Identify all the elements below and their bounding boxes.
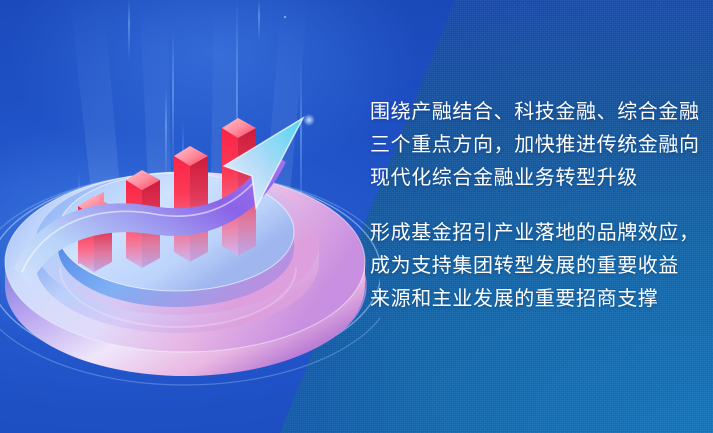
growth-chart-illustration	[0, 0, 380, 433]
paragraph-2-line-2: 成为支持集团转型发展的重要收益	[370, 250, 700, 283]
bar-3	[174, 146, 208, 262]
paragraph-2: 形成基金招引产业落地的品牌效应， 成为支持集团转型发展的重要收益 来源和主业发展…	[370, 217, 700, 316]
paragraph-1-line-1: 围绕产融结合、科技金融、综合金融	[370, 96, 700, 129]
paragraph-1-line-2: 三个重点方向，加快推进传统金融向	[370, 129, 700, 162]
copy-block: 围绕产融结合、科技金融、综合金融 三个重点方向，加快推进传统金融向 现代化综合金…	[370, 96, 700, 316]
paragraph-2-line-3: 来源和主业发展的重要招商支撑	[370, 283, 700, 316]
paragraph-2-line-1: 形成基金招引产业落地的品牌效应，	[370, 217, 700, 250]
paragraph-1: 围绕产融结合、科技金融、综合金融 三个重点方向，加快推进传统金融向 现代化综合金…	[370, 96, 700, 195]
slide-canvas: 围绕产融结合、科技金融、综合金融 三个重点方向，加快推进传统金融向 现代化综合金…	[0, 0, 713, 433]
paragraph-1-line-3: 现代化综合金融业务转型升级	[370, 162, 700, 195]
